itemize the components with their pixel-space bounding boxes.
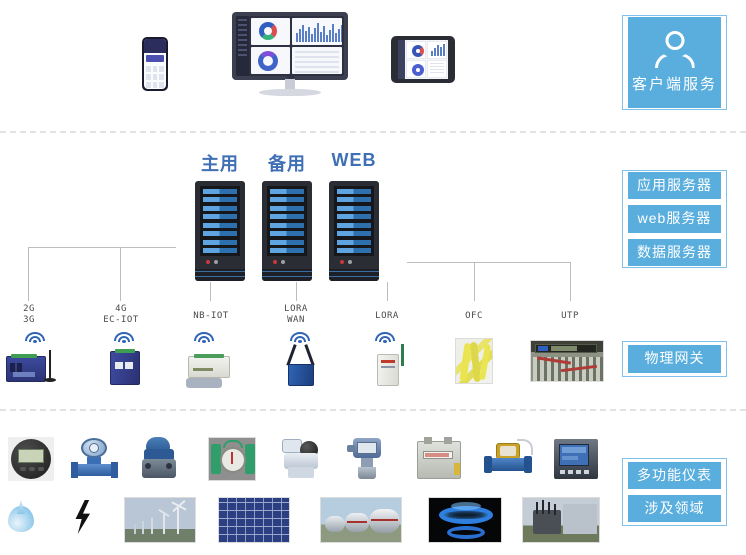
- tablet-sidebar: [398, 40, 405, 79]
- tablet-screen: [398, 40, 448, 79]
- smartphone-action-bar: [146, 55, 164, 62]
- wifi-signal-icon: [24, 332, 46, 344]
- antenna-right: [304, 344, 314, 366]
- dashboard-gauge-card: [251, 47, 290, 74]
- connector-right-stem: [474, 262, 475, 301]
- tablet-table-card: [427, 60, 447, 78]
- server-rack-web: [329, 181, 379, 281]
- gateway-device-lora: [363, 332, 423, 388]
- proto-label-4g-ecoit: 4G EC-IOT: [92, 304, 150, 326]
- dashboard-cards: [249, 16, 344, 76]
- dashboard-bar-card: [292, 18, 342, 45]
- instrument-water-meter: [484, 437, 536, 481]
- instrument-vortex-flow-meter: [208, 437, 256, 481]
- domain-gas-flame-photo: [428, 497, 502, 543]
- rack-label-web: WEB: [323, 150, 385, 171]
- tablet-donut-card: [406, 41, 426, 59]
- rack-case: [329, 181, 379, 281]
- gateway-device-nb-iot: [182, 332, 242, 388]
- proto-label-lora-wan: LORA WAN: [268, 304, 324, 326]
- cable-bundle: [186, 378, 222, 388]
- monitor-neck: [285, 79, 295, 89]
- antenna-rod: [401, 344, 404, 366]
- server-rack-backup: [262, 181, 312, 281]
- rack-blades: [200, 186, 240, 256]
- instrument-gas-meter: [414, 437, 464, 481]
- legend-app-server: 应用服务器: [628, 172, 721, 199]
- utp-patch-panel-photo: [530, 340, 604, 382]
- connector-left-drop-4g: [120, 247, 121, 301]
- legend-client-label: 客户端服务: [632, 77, 717, 94]
- instrument-panel-power-meter: [552, 437, 600, 481]
- dashboard-sidebar: [236, 16, 249, 76]
- dtu-module: [6, 356, 46, 382]
- ofc-fiber-photo: [455, 338, 493, 384]
- dashboard-donut-card: [251, 18, 290, 45]
- instrument-turbine-flow-meter: [278, 437, 326, 481]
- rack-base: [195, 269, 245, 281]
- legend-client-service[interactable]: 客户端服务: [622, 15, 727, 110]
- rack-status-leds: [267, 256, 307, 264]
- gauge-chart: [258, 51, 278, 71]
- connector-lora-drop: [387, 282, 388, 301]
- smartphone-app-grid: [144, 64, 166, 89]
- tablet-bar-chart: [431, 44, 447, 56]
- rack-case: [195, 181, 245, 281]
- lora-node-body: [377, 354, 399, 386]
- legend-device-layer[interactable]: 多功能仪表 涉及领域: [622, 458, 727, 526]
- lora-gateway-body: [288, 364, 314, 386]
- table-rows: [295, 51, 339, 74]
- gateway-device-lora-wan: [272, 332, 332, 388]
- wifi-signal-icon: [113, 332, 135, 344]
- rack-blades: [334, 186, 374, 256]
- tablet-gauge-chart: [412, 64, 424, 76]
- wifi-signal-icon: [374, 332, 396, 344]
- proto-label-ofc: OFC: [447, 311, 501, 322]
- legend-web-server: web服务器: [628, 205, 721, 232]
- domain-wind-power-photo: [124, 497, 196, 543]
- legend-data-server: 数据服务器: [628, 239, 721, 266]
- proto-line-1: LORA: [359, 311, 415, 322]
- proto-label-nb-iot: NB-IOT: [180, 311, 242, 322]
- monitor-bezel: [232, 12, 348, 80]
- domain-water-icon: [8, 500, 34, 534]
- rack-base: [262, 269, 312, 281]
- instrument-electromagnetic-flow-meter: [70, 437, 120, 481]
- rack-label-backup: 备用: [257, 150, 317, 176]
- user-icon: [652, 31, 698, 71]
- domain-gas-storage-tanks-photo: [320, 497, 402, 543]
- tablet-cards: [405, 40, 448, 79]
- proto-line-1: 4G: [92, 304, 150, 315]
- tablet-gauge-card: [406, 60, 426, 78]
- proto-label-2g-3g: 2G 3G: [8, 304, 50, 326]
- nb-iot-concentrator: [188, 356, 230, 378]
- proto-line-1: UTP: [543, 311, 597, 322]
- connector-right-trunk: [407, 262, 570, 263]
- legend-server-roles[interactable]: 应用服务器 web服务器 数据服务器: [622, 170, 727, 268]
- wifi-signal-icon: [289, 332, 311, 344]
- gateway-device-4g-ecoit: [96, 332, 156, 388]
- rack-status-leds: [334, 256, 374, 264]
- connector-left-trunk: [28, 247, 176, 248]
- proto-line-2: EC-IOT: [92, 315, 150, 326]
- legend-application-domain: 涉及领域: [628, 495, 721, 522]
- wifi-signal-icon: [193, 332, 215, 344]
- server-rack-primary: [195, 181, 245, 281]
- desktop-monitor-device: [232, 12, 348, 98]
- antenna-left: [286, 344, 296, 366]
- rack-label-primary: 主用: [190, 150, 250, 176]
- connector-rack-drop-primary: [210, 282, 211, 301]
- tablet-donut-chart: [412, 45, 424, 57]
- bar-chart: [296, 22, 342, 42]
- legend-physical-gateway[interactable]: 物理网关: [622, 341, 727, 377]
- monitor-base: [259, 89, 321, 96]
- proto-line-1: OFC: [447, 311, 501, 322]
- proto-line-1: 2G: [8, 304, 50, 315]
- monitor-dashboard: [236, 16, 344, 76]
- instrument-pressure-gauge-transmitter: [344, 437, 390, 481]
- instrument-pressure-transmitter: [136, 437, 184, 481]
- tablet-table-rows: [430, 63, 444, 75]
- proto-label-lora: LORA: [359, 311, 415, 322]
- rack-case: [262, 181, 312, 281]
- divider-server-gateway: [0, 409, 746, 411]
- connector-right-drop-utp: [570, 262, 571, 301]
- proto-line-2: 3G: [8, 315, 50, 326]
- legend-client-chip: 客户端服务: [628, 17, 721, 108]
- smartphone-header: [144, 39, 166, 53]
- rack-blades: [267, 186, 307, 256]
- instrument-digital-display-meter: [8, 437, 54, 481]
- domain-electricity-icon: [72, 500, 94, 534]
- antenna-base: [44, 378, 56, 382]
- domain-solar-panel-photo: [218, 497, 290, 543]
- rack-status-leds: [200, 256, 240, 264]
- connector-rack-drop-backup: [296, 282, 297, 301]
- proto-line-1: NB-IOT: [180, 311, 242, 322]
- industrial-router: [110, 351, 140, 385]
- divider-client-server: [0, 131, 746, 133]
- donut-chart: [259, 22, 277, 40]
- antenna-rod: [49, 350, 51, 378]
- legend-gateway-label: 物理网关: [628, 345, 721, 372]
- diagram-canvas: 客户端服务 主用 备用 WEB: [0, 0, 746, 555]
- rack-base: [329, 269, 379, 281]
- gateway-device-2g-3g: [5, 332, 65, 388]
- domain-substation-transformer-photo: [522, 497, 600, 543]
- smartphone-device: [142, 37, 168, 91]
- tablet-device: [391, 36, 455, 83]
- proto-line-2: WAN: [268, 315, 324, 326]
- connector-left-drop-2g: [28, 247, 29, 301]
- legend-multifunction-meter: 多功能仪表: [628, 462, 721, 489]
- proto-line-1: LORA: [268, 304, 324, 315]
- dashboard-table-card: [292, 47, 342, 74]
- smartphone-screen: [144, 39, 166, 89]
- tablet-bar-card: [427, 41, 447, 59]
- proto-label-utp: UTP: [543, 311, 597, 322]
